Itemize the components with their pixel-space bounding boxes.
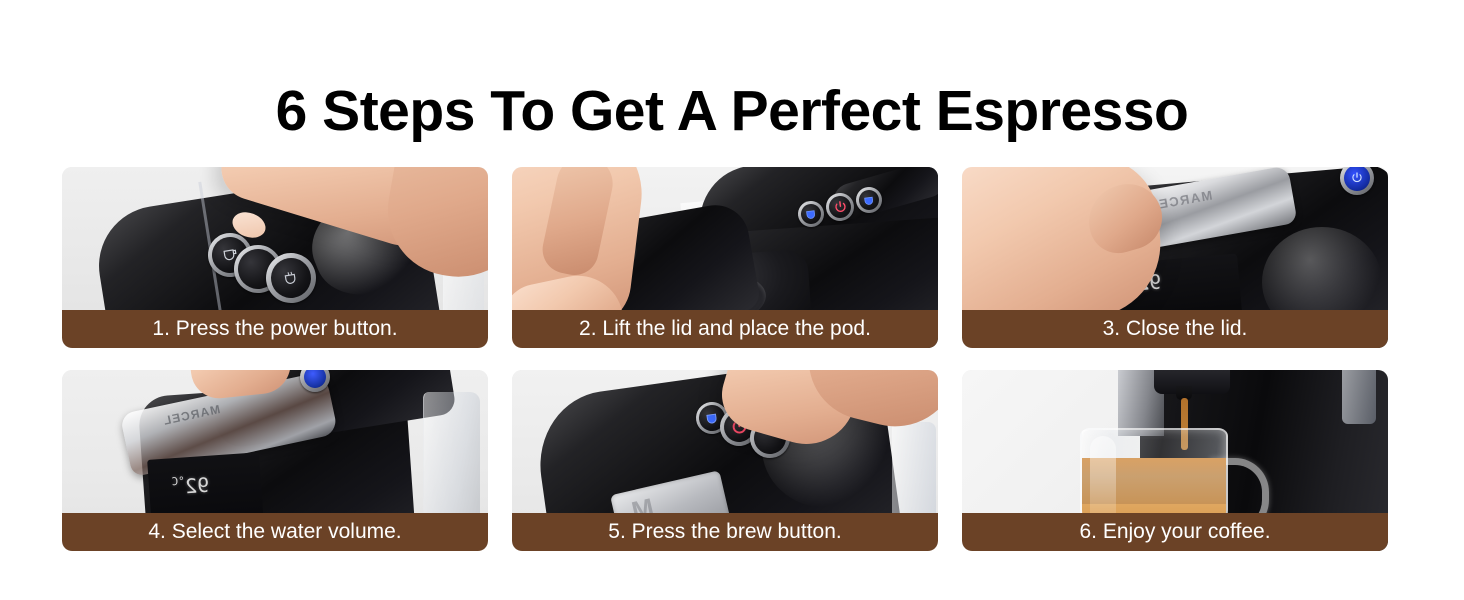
page-title: 6 Steps To Get A Perfect Espresso bbox=[0, 78, 1464, 144]
step-caption-5: 5. Press the brew button. bbox=[512, 513, 938, 551]
temperature-unit: °C bbox=[171, 474, 185, 488]
temperature-display: 92°C bbox=[171, 473, 210, 500]
step-caption-3: 3. Close the lid. bbox=[962, 310, 1388, 348]
step-card-3[interactable]: MARCEL 92°C 3. Close the li bbox=[962, 167, 1388, 348]
step-card-2[interactable]: 92° 2. Lift the lid and place the pod. bbox=[512, 167, 938, 348]
step-card-4[interactable]: MARCEL 92°C 4. Select the water volume. bbox=[62, 370, 488, 551]
step-caption-4: 4. Select the water volume. bbox=[62, 513, 488, 551]
infographic-page: 6 Steps To Get A Perfect Espresso bbox=[0, 0, 1464, 600]
temperature-value: 92 bbox=[184, 473, 210, 499]
step-caption-1: 1. Press the power button. bbox=[62, 310, 488, 348]
steps-grid: 1. Press the power button. bbox=[62, 167, 1388, 551]
step-card-6[interactable]: 6. Enjoy your coffee. bbox=[962, 370, 1388, 551]
step-card-1[interactable]: 1. Press the power button. bbox=[62, 167, 488, 348]
spout-housing bbox=[1154, 370, 1230, 394]
step-card-5[interactable]: M bbox=[512, 370, 938, 551]
water-tank bbox=[1342, 370, 1376, 424]
step-caption-2: 2. Lift the lid and place the pod. bbox=[512, 310, 938, 348]
step-caption-6: 6. Enjoy your coffee. bbox=[962, 513, 1388, 551]
